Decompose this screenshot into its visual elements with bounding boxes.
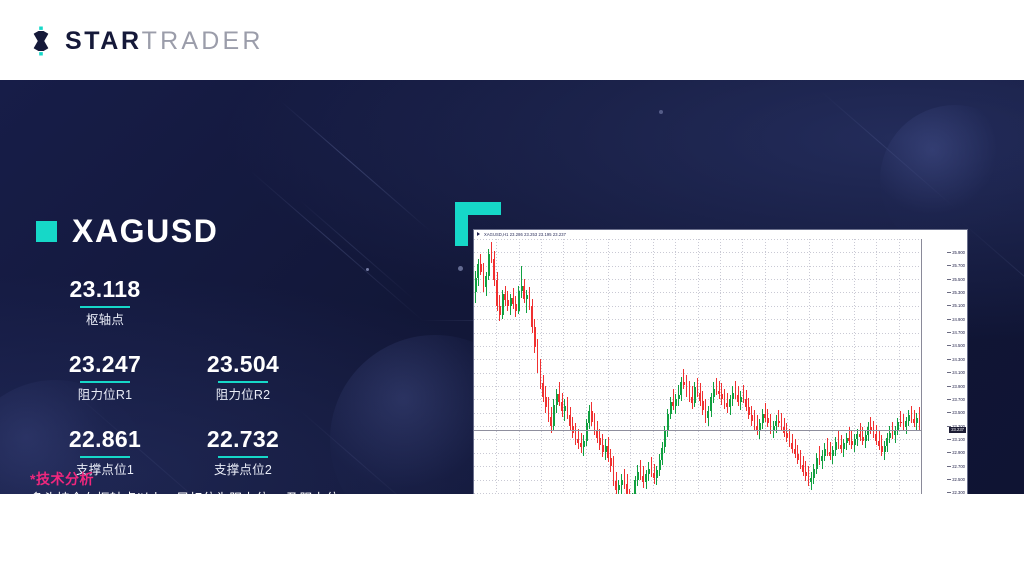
candle-body bbox=[491, 254, 493, 259]
candle-body bbox=[545, 397, 547, 408]
price-tick-label: 24.900 bbox=[952, 317, 965, 322]
brand-logo[interactable]: STARTRADER bbox=[26, 26, 264, 56]
pivot-value: 22.732 bbox=[174, 426, 312, 453]
pivot-label: 阻力位R2 bbox=[174, 387, 312, 403]
candle-body bbox=[542, 383, 544, 396]
candle-body bbox=[732, 393, 734, 400]
gridline-vertical bbox=[653, 239, 654, 494]
gridline-vertical bbox=[787, 239, 788, 494]
triangle-icon bbox=[477, 232, 480, 236]
pivot-value: 23.118 bbox=[36, 276, 174, 303]
candle-wick bbox=[778, 410, 779, 427]
candle-wick bbox=[716, 378, 717, 395]
candle-body bbox=[523, 286, 525, 299]
candle-body bbox=[889, 433, 891, 438]
pivot-cell-pivot: 23.118 枢轴点 bbox=[36, 270, 174, 328]
candle-body bbox=[659, 460, 661, 471]
chart-title-bar: XAGUSD,H1 23.286 23.253 23.195 23.237 bbox=[474, 230, 967, 239]
gridline-vertical bbox=[586, 239, 587, 494]
candle-body bbox=[697, 387, 699, 392]
candle-body bbox=[897, 422, 899, 430]
candle-body bbox=[624, 480, 626, 484]
candle-body bbox=[829, 452, 831, 456]
price-tick-label: 24.500 bbox=[952, 343, 965, 348]
gridline-horizontal bbox=[474, 426, 921, 427]
candle-body bbox=[856, 434, 858, 439]
gridline-horizontal bbox=[474, 292, 921, 293]
candle-body bbox=[819, 458, 821, 461]
gridline-vertical bbox=[563, 239, 564, 494]
header-bar: STARTRADER bbox=[0, 0, 1024, 80]
gridline-horizontal bbox=[474, 413, 921, 414]
candle-body bbox=[540, 367, 542, 383]
candle-body bbox=[816, 458, 818, 469]
candle-body bbox=[686, 385, 688, 392]
pivot-label: 支撑点位2 bbox=[174, 462, 312, 478]
candle-body bbox=[786, 433, 788, 438]
candle-body bbox=[648, 469, 650, 474]
pivot-cell-r2: 23.504 阻力位R2 bbox=[174, 345, 312, 403]
accent-underline bbox=[218, 456, 268, 458]
gridline-vertical bbox=[630, 239, 631, 494]
candle-body bbox=[781, 423, 783, 427]
pivot-row: 23.118 枢轴点 bbox=[36, 270, 426, 328]
current-price-tag: 23.237 bbox=[949, 427, 966, 433]
candle-body bbox=[710, 397, 712, 412]
candle-body bbox=[867, 427, 869, 435]
price-tick-label: 22.500 bbox=[952, 477, 965, 482]
price-tick-label: 25.500 bbox=[952, 277, 965, 282]
candle-body bbox=[518, 291, 520, 311]
gridline-horizontal bbox=[474, 466, 921, 467]
candle-body bbox=[531, 306, 533, 327]
candle-body bbox=[477, 264, 479, 277]
gridline-horizontal bbox=[474, 480, 921, 481]
decor-dot bbox=[659, 110, 663, 114]
candle-body bbox=[705, 410, 707, 418]
candle-body bbox=[813, 469, 815, 478]
candle-body bbox=[548, 407, 550, 416]
candle-body bbox=[908, 415, 910, 420]
asterisk-star-icon bbox=[26, 26, 56, 56]
gridline-vertical bbox=[742, 239, 743, 494]
candle-body bbox=[859, 434, 861, 437]
candle-wick bbox=[640, 460, 641, 480]
candle-body bbox=[838, 442, 840, 445]
candle-body bbox=[764, 414, 766, 418]
candle-body bbox=[558, 394, 560, 402]
candle-body bbox=[637, 472, 639, 480]
candle-body bbox=[862, 437, 864, 441]
candle-body bbox=[824, 449, 826, 456]
price-tick-label: 24.700 bbox=[952, 330, 965, 335]
accent-underline bbox=[80, 381, 130, 383]
pivot-cell-r1: 23.247 阻力位R1 bbox=[36, 345, 174, 403]
accent-underline bbox=[80, 306, 130, 308]
candle-body bbox=[846, 438, 848, 443]
candle-body bbox=[791, 443, 793, 448]
price-tick-label: 25.700 bbox=[952, 263, 965, 268]
candle-body bbox=[642, 476, 644, 483]
brand-wordmark: STARTRADER bbox=[65, 27, 264, 56]
candle-body bbox=[651, 469, 653, 473]
gridline-horizontal bbox=[474, 279, 921, 280]
candle-body bbox=[653, 473, 655, 478]
candle-body bbox=[680, 382, 682, 395]
candle-wick bbox=[860, 423, 861, 440]
gridline-vertical bbox=[809, 239, 810, 494]
pivot-label: 阻力位R1 bbox=[36, 387, 174, 403]
pivot-value: 23.504 bbox=[174, 351, 312, 378]
candle-body bbox=[851, 441, 853, 445]
mt4-chart-window[interactable]: XAGUSD,H1 23.286 23.253 23.195 23.237 25… bbox=[473, 229, 968, 494]
instrument-heading: XAGUSD bbox=[36, 213, 219, 250]
price-tick-label: 22.700 bbox=[952, 464, 965, 469]
candle-body bbox=[832, 450, 834, 455]
candle-body bbox=[667, 414, 669, 431]
candle-body bbox=[743, 397, 745, 400]
candle-body bbox=[602, 445, 604, 452]
candle-wick bbox=[521, 266, 522, 298]
candle-body bbox=[721, 394, 723, 399]
candle-body bbox=[748, 407, 750, 415]
candle-body bbox=[502, 294, 504, 315]
square-marker-icon bbox=[36, 221, 57, 242]
candle-body bbox=[699, 393, 701, 401]
candle-body bbox=[483, 272, 485, 287]
candle-body bbox=[878, 441, 880, 446]
candle-body bbox=[808, 476, 810, 483]
gridline-horizontal bbox=[474, 266, 921, 267]
candle-body bbox=[916, 418, 918, 423]
candle-body bbox=[800, 460, 802, 465]
candle-body bbox=[718, 391, 720, 394]
gridline-vertical bbox=[698, 239, 699, 494]
slide-root: STARTRADER XAGUSD 23.118 bbox=[0, 0, 1024, 576]
price-tick-label: 22.900 bbox=[952, 450, 965, 455]
candle-body bbox=[805, 472, 807, 476]
candle-body bbox=[875, 434, 877, 441]
candle-wick bbox=[735, 381, 736, 400]
gridline-vertical bbox=[899, 239, 900, 494]
candle-body bbox=[794, 449, 796, 454]
candle-body bbox=[905, 421, 907, 428]
footer-bar: 汇评 | 2023年7月12日 bbox=[0, 494, 1024, 576]
gridline-horizontal bbox=[474, 359, 921, 360]
candle-body bbox=[678, 395, 680, 399]
accent-underline bbox=[218, 381, 268, 383]
candle-body bbox=[854, 439, 856, 444]
price-tick-label: 24.100 bbox=[952, 370, 965, 375]
candle-body bbox=[485, 276, 487, 287]
gridline-vertical bbox=[765, 239, 766, 494]
chart-title-text: XAGUSD,H1 23.286 23.253 23.195 23.237 bbox=[484, 232, 566, 237]
candle-body bbox=[553, 405, 555, 426]
candle-body bbox=[884, 446, 886, 451]
analysis-title: *技术分析 bbox=[30, 469, 94, 489]
candle-body bbox=[735, 393, 737, 396]
candle-body bbox=[645, 474, 647, 482]
current-price-line bbox=[474, 430, 921, 431]
candle-body bbox=[900, 422, 902, 423]
candle-body bbox=[507, 300, 509, 305]
candle-body bbox=[892, 433, 894, 436]
pivot-value: 22.861 bbox=[36, 426, 174, 453]
candle-body bbox=[740, 397, 742, 402]
price-tick-label: 23.100 bbox=[952, 437, 965, 442]
candle-wick bbox=[781, 413, 782, 432]
page-title: XAGUSD bbox=[72, 213, 219, 250]
candle-body bbox=[583, 441, 585, 448]
candle-body bbox=[640, 472, 642, 476]
gridline-horizontal bbox=[474, 239, 921, 240]
candle-body bbox=[726, 403, 728, 407]
candle-body bbox=[661, 448, 663, 460]
candle-body bbox=[534, 327, 536, 347]
candle-body bbox=[691, 397, 693, 404]
candle-body bbox=[496, 280, 498, 305]
candle-body bbox=[605, 446, 607, 451]
candle-body bbox=[903, 423, 905, 427]
candle-body bbox=[610, 458, 612, 466]
pivot-row: 23.247 阻力位R1 23.504 阻力位R2 bbox=[36, 345, 426, 403]
pivot-cell-s2: 22.732 支撑点位2 bbox=[174, 420, 312, 478]
candle-body bbox=[911, 415, 913, 419]
candle-wick bbox=[743, 385, 744, 404]
candle-body bbox=[499, 306, 501, 315]
candle-body bbox=[745, 399, 747, 407]
candle-body bbox=[588, 411, 590, 423]
candle-body bbox=[835, 442, 837, 450]
gridline-horizontal bbox=[474, 252, 921, 253]
candle-body bbox=[775, 421, 777, 426]
candle-body bbox=[797, 454, 799, 459]
candle-body bbox=[521, 286, 523, 291]
candle-body bbox=[664, 431, 666, 447]
candle-body bbox=[613, 466, 615, 481]
gridline-horizontal bbox=[474, 319, 921, 320]
candle-body bbox=[594, 422, 596, 430]
candle-wick bbox=[719, 381, 720, 400]
pivot-levels-grid: 23.118 枢轴点 23.247 阻力位R1 23.504 阻力位R2 bbox=[36, 270, 426, 478]
candle-wick bbox=[838, 431, 839, 448]
candle-body bbox=[716, 389, 718, 392]
candle-body bbox=[634, 480, 636, 494]
price-tick-label: 25.900 bbox=[952, 250, 965, 255]
gridline-horizontal bbox=[474, 399, 921, 400]
candle-body bbox=[843, 443, 845, 448]
candle-body bbox=[767, 418, 769, 423]
candle-body bbox=[810, 478, 812, 482]
candle-body bbox=[672, 402, 674, 406]
gridline-vertical bbox=[720, 239, 721, 494]
candle-body bbox=[575, 433, 577, 440]
candle-body bbox=[599, 438, 601, 445]
candle-body bbox=[529, 295, 531, 306]
candle-body bbox=[675, 399, 677, 406]
price-tick-label: 23.700 bbox=[952, 397, 965, 402]
candle-body bbox=[886, 438, 888, 446]
candle-body bbox=[770, 423, 772, 430]
candle-body bbox=[707, 411, 709, 418]
candle-body bbox=[670, 402, 672, 414]
candle-body bbox=[789, 438, 791, 443]
price-tick-label: 25.100 bbox=[952, 303, 965, 308]
chart-plot-area[interactable] bbox=[474, 239, 921, 494]
candle-body bbox=[689, 391, 691, 396]
gridline-horizontal bbox=[474, 346, 921, 347]
price-tick-label: 24.300 bbox=[952, 357, 965, 362]
candle-body bbox=[475, 278, 477, 293]
decor-dot bbox=[458, 266, 463, 271]
candle-body bbox=[913, 419, 915, 423]
candle-body bbox=[577, 439, 579, 443]
candle-wick bbox=[683, 369, 684, 389]
brand-name-light: TRADER bbox=[142, 27, 264, 56]
candle-body bbox=[802, 465, 804, 472]
candle-body bbox=[840, 445, 842, 449]
candle-body bbox=[515, 304, 517, 311]
candle-body bbox=[621, 480, 623, 485]
accent-underline bbox=[80, 456, 130, 458]
candle-body bbox=[778, 421, 780, 424]
candle-body bbox=[618, 485, 620, 490]
candle-body bbox=[827, 449, 829, 452]
candle-wick bbox=[827, 438, 828, 455]
candle-body bbox=[724, 399, 726, 403]
candle-wick bbox=[819, 446, 820, 465]
gridline-vertical bbox=[854, 239, 855, 494]
candle-wick bbox=[526, 290, 527, 313]
candle-body bbox=[488, 254, 490, 276]
candle-wick bbox=[491, 242, 492, 263]
candle-body bbox=[561, 402, 563, 411]
candle-wick bbox=[900, 411, 901, 427]
gridline-horizontal bbox=[474, 453, 921, 454]
candle-body bbox=[865, 435, 867, 440]
candle-body bbox=[702, 401, 704, 410]
candle-body bbox=[751, 415, 753, 420]
candle-body bbox=[550, 417, 552, 426]
candle-body bbox=[607, 446, 609, 458]
candle-body bbox=[569, 415, 571, 426]
candle-wick bbox=[765, 403, 766, 422]
candle-body bbox=[754, 421, 756, 426]
pivot-label: 枢轴点 bbox=[36, 312, 174, 328]
price-tick-label: 23.900 bbox=[952, 384, 965, 389]
candle-body bbox=[537, 347, 539, 367]
gridline-horizontal bbox=[474, 306, 921, 307]
pivot-value: 23.247 bbox=[36, 351, 174, 378]
candle-body bbox=[821, 456, 823, 461]
gridline-horizontal bbox=[474, 333, 921, 334]
candle-body bbox=[556, 394, 558, 405]
candle-body bbox=[567, 406, 569, 415]
candle-body bbox=[881, 446, 883, 451]
candle-body bbox=[713, 389, 715, 397]
candle-body bbox=[694, 387, 696, 403]
price-tick-label: 23.500 bbox=[952, 410, 965, 415]
main-stage: XAGUSD 23.118 枢轴点 23.247 阻力位R1 23.504 bbox=[0, 80, 1024, 494]
gridline-vertical bbox=[675, 239, 676, 494]
candle-body bbox=[762, 414, 764, 423]
candle-body bbox=[656, 470, 658, 478]
candle-body bbox=[580, 443, 582, 447]
candle-body bbox=[848, 438, 850, 441]
candle-wick bbox=[673, 389, 674, 410]
candle-body bbox=[683, 382, 685, 385]
candle-body bbox=[512, 298, 514, 305]
price-tick-label: 25.300 bbox=[952, 290, 965, 295]
candle-body bbox=[615, 481, 617, 490]
candle-body bbox=[591, 411, 593, 422]
candle-body bbox=[729, 399, 731, 407]
pivot-row: 22.861 支撑点位1 22.732 支撑点位2 bbox=[36, 420, 426, 478]
candle-body bbox=[480, 264, 482, 272]
candle-wick bbox=[870, 417, 871, 434]
gridline-vertical bbox=[519, 239, 520, 494]
candle-body bbox=[526, 295, 528, 299]
price-axis[interactable]: 25.90025.70025.50025.30025.10024.90024.7… bbox=[921, 239, 967, 494]
candle-body bbox=[586, 423, 588, 440]
candle-wick bbox=[651, 457, 652, 477]
candle-body bbox=[564, 406, 566, 411]
candle-body bbox=[504, 294, 506, 301]
candle-body bbox=[626, 484, 628, 494]
candle-body bbox=[737, 395, 739, 402]
candle-body bbox=[510, 298, 512, 306]
brand-name-bold: STAR bbox=[65, 27, 142, 56]
gridline-vertical bbox=[876, 239, 877, 494]
candle-body bbox=[493, 259, 495, 280]
